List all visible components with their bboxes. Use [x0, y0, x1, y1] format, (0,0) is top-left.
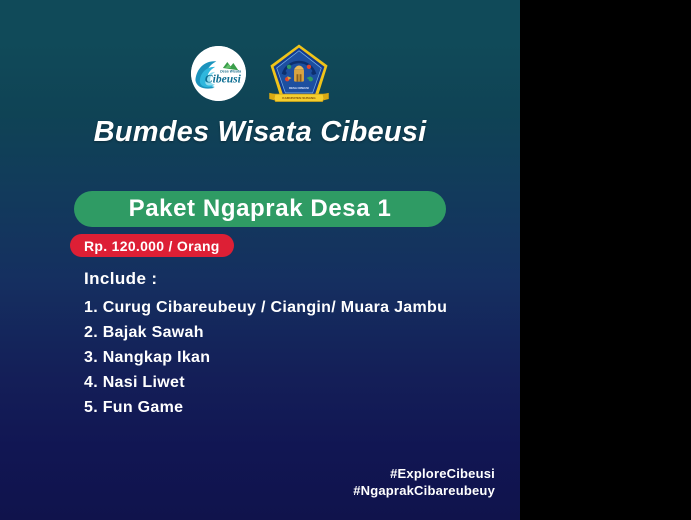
- hashtag-ngaprak-cibareubeuy: #NgaprakCibareubeuy: [353, 482, 495, 499]
- poster-root: Desa Wisata Cibeusi: [0, 0, 691, 520]
- package-name-banner: Paket Ngaprak Desa 1: [74, 191, 446, 227]
- cibeusi-circle-logo: Desa Wisata Cibeusi: [191, 46, 246, 101]
- list-item: 5. Fun Game: [84, 395, 504, 420]
- wave-mountain-logo-icon: Desa Wisata Cibeusi: [191, 46, 246, 101]
- flyer-canvas: Desa Wisata Cibeusi: [0, 0, 520, 520]
- list-item: 3. Nangkap Ikan: [84, 345, 504, 370]
- village-crest-emblem-icon: DESA CIBEUSI KABUPATEN SUBANG: [268, 42, 330, 104]
- list-item: 4. Nasi Liwet: [84, 370, 504, 395]
- hashtag-block: #ExploreCibeusi #NgaprakCibareubeuy: [353, 465, 495, 499]
- include-list: 1. Curug Cibareubeuy / Ciangin/ Muara Ja…: [84, 295, 504, 420]
- list-item: 2. Bajak Sawah: [84, 320, 504, 345]
- svg-text:KABUPATEN SUBANG: KABUPATEN SUBANG: [282, 96, 316, 100]
- include-section: Include : 1. Curug Cibareubeuy / Ciangin…: [84, 269, 504, 420]
- letterbox-filler: [520, 0, 691, 520]
- list-item: 1. Curug Cibareubeuy / Ciangin/ Muara Ja…: [84, 295, 504, 320]
- hashtag-explore-cibeusi: #ExploreCibeusi: [353, 465, 495, 482]
- price-badge: Rp. 120.000 / Orang: [70, 234, 234, 257]
- price-label: Rp. 120.000 / Orang: [84, 238, 220, 254]
- package-name-label: Paket Ngaprak Desa 1: [129, 195, 392, 223]
- logo-row: Desa Wisata Cibeusi: [0, 42, 520, 104]
- include-heading: Include :: [84, 269, 504, 289]
- svg-text:Cibeusi: Cibeusi: [204, 73, 241, 85]
- village-crest-logo: DESA CIBEUSI KABUPATEN SUBANG: [268, 42, 330, 104]
- svg-text:DESA CIBEUSI: DESA CIBEUSI: [289, 86, 309, 90]
- page-title: Bumdes Wisata Cibeusi: [0, 117, 520, 149]
